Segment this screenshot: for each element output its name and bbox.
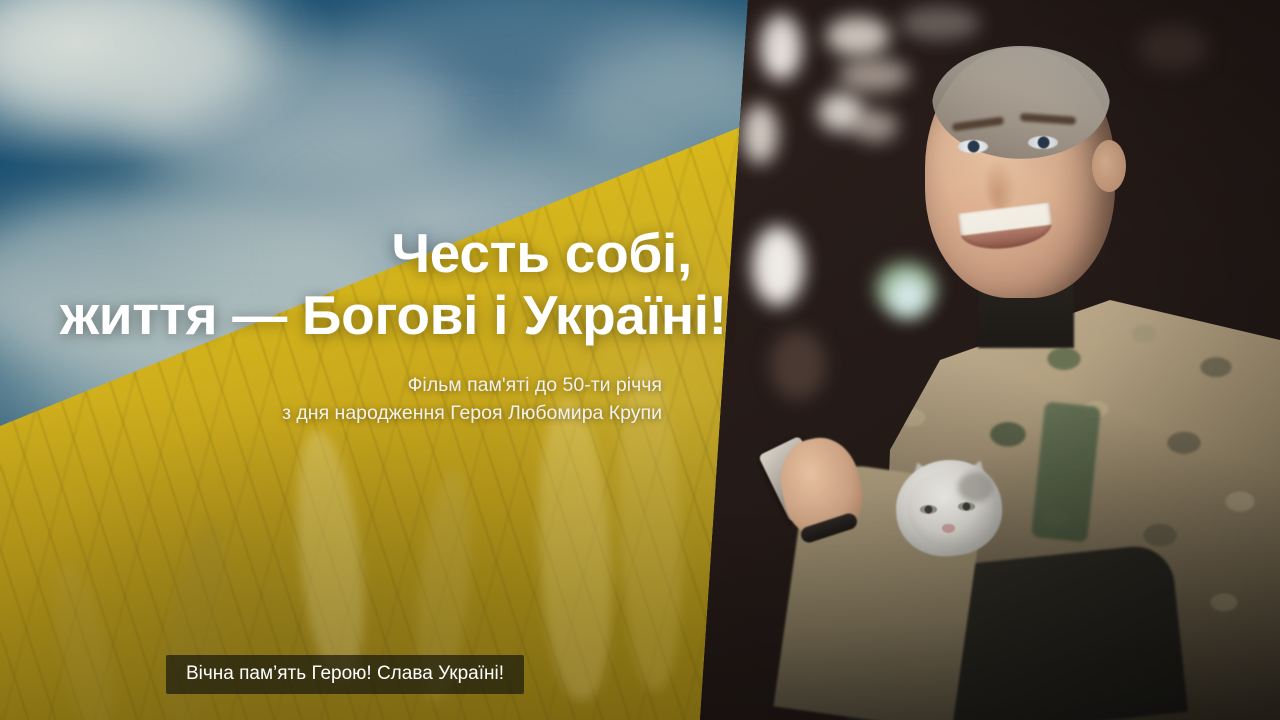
headline-line-2: життя — Богові і Україні! — [60, 284, 692, 346]
poster-headline: Честь собі, життя — Богові і Україні! — [60, 222, 692, 346]
poster-stage: Честь собі, життя — Богові і Україні! Фі… — [0, 0, 1280, 720]
headline-line-1: Честь собі, — [391, 222, 692, 284]
memorial-caption-box: Вічна пам’ять Герою! Слава Україні! — [166, 655, 524, 694]
poster-subtitle: Фільм пам'яті до 50-ти річчя з дня народ… — [180, 371, 662, 427]
subtitle-line-1: Фільм пам'яті до 50-ти річчя — [180, 371, 662, 399]
memorial-caption-text: Вічна пам’ять Герою! Слава Україні! — [186, 663, 504, 684]
subtitle-line-2: з дня народження Героя Любомира Крупи — [180, 399, 662, 427]
